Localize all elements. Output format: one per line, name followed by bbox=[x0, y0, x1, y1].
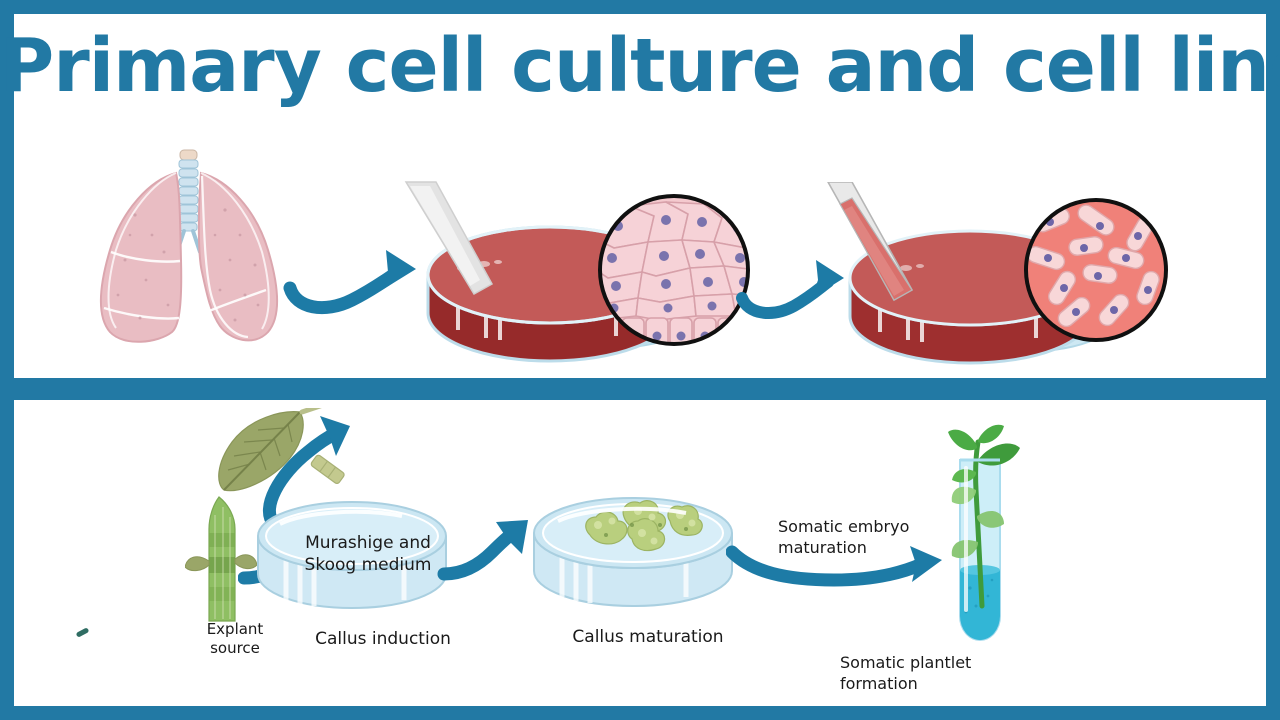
magnifier-epithelial-cells bbox=[596, 192, 752, 348]
somatic-embryo-maturation-label: Somatic embryo maturation bbox=[778, 516, 998, 558]
callus-maturation-dish bbox=[528, 495, 738, 620]
somatic-plantlet-formation-label: Somatic plantlet formation bbox=[840, 652, 1060, 694]
explant-source-label: Explant source bbox=[175, 620, 295, 658]
page-title: Primary cell culture and cell line bbox=[0, 26, 1280, 106]
callus-maturation-label: Callus maturation bbox=[548, 628, 748, 647]
lung-tissue-illustration bbox=[80, 140, 300, 350]
magnifier-dispersed-cells bbox=[1022, 196, 1170, 344]
slide-canvas: Primary cell culture and cell line bbox=[0, 0, 1280, 720]
callus-induction-label: Callus induction bbox=[288, 630, 478, 649]
dish-medium-text: Murashige and Skoog medium bbox=[288, 532, 448, 576]
